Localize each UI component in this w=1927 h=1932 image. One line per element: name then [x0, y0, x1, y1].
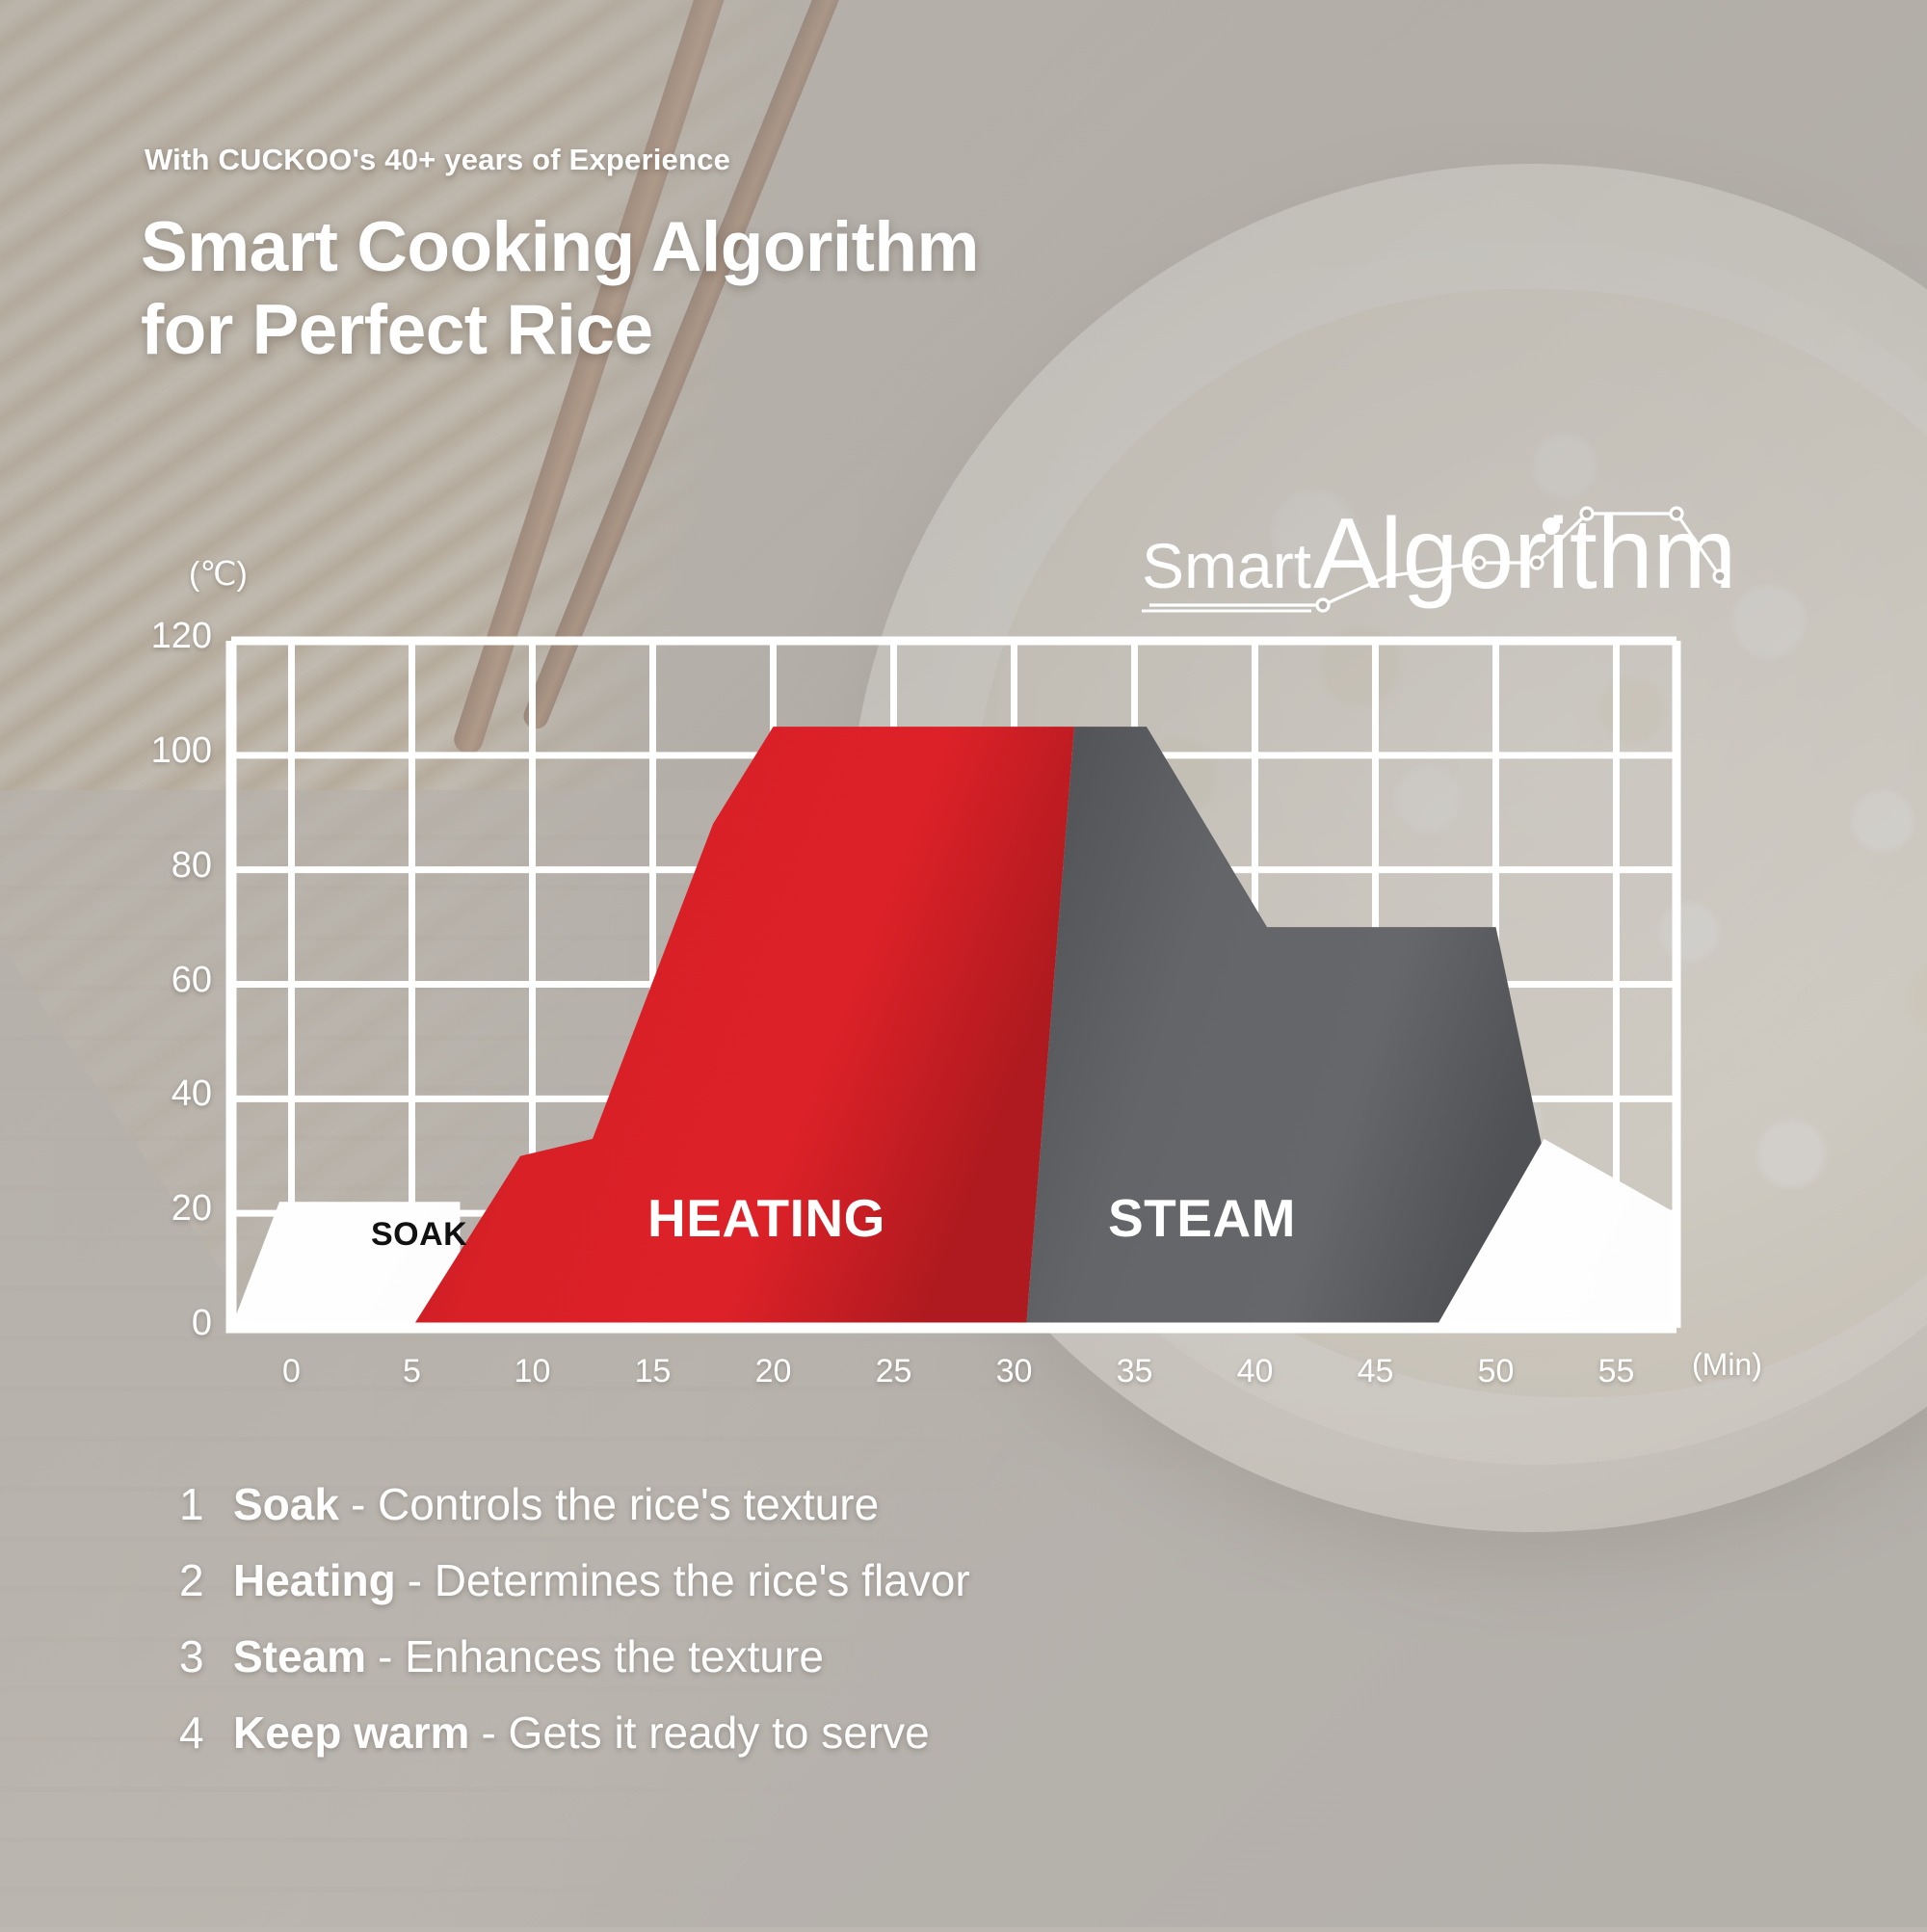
x-axis-tick: 10 [489, 1353, 576, 1390]
step-description: - Gets it ready to serve [481, 1707, 929, 1759]
step-item: 4Keep warm- Gets it ready to serve [179, 1707, 1432, 1759]
x-axis-tick: 35 [1092, 1353, 1178, 1390]
x-axis-tick: 30 [971, 1353, 1058, 1390]
y-axis-tick: 0 [106, 1303, 212, 1344]
x-axis-unit-label: (Min) [1692, 1347, 1762, 1383]
steps-list: 1Soak- Controls the rice's texture2Heati… [179, 1478, 1432, 1783]
x-axis-tick: 55 [1573, 1353, 1660, 1390]
step-number: 3 [179, 1630, 233, 1682]
y-axis-unit-label: (℃) [189, 555, 248, 594]
y-axis-tick: 60 [106, 960, 212, 1001]
x-axis-tick: 5 [369, 1353, 456, 1390]
step-item: 3Steam- Enhances the texture [179, 1630, 1432, 1682]
step-item: 2Heating- Determines the rice's flavor [179, 1554, 1432, 1606]
step-number: 1 [179, 1478, 233, 1530]
phase-label-soak: SOAK [371, 1216, 467, 1254]
step-name: Keep warm [233, 1707, 469, 1759]
step-description: - Controls the rice's texture [351, 1478, 879, 1530]
step-number: 4 [179, 1707, 233, 1759]
step-description: - Enhances the texture [378, 1630, 824, 1682]
y-axis-tick: 100 [106, 730, 212, 772]
x-axis-tick: 25 [851, 1353, 937, 1390]
phase-label-heating: HEATING [647, 1187, 885, 1249]
y-axis-tick: 20 [106, 1188, 212, 1230]
x-axis-tick: 50 [1453, 1353, 1540, 1390]
x-axis-tick: 40 [1212, 1353, 1299, 1390]
step-number: 2 [179, 1554, 233, 1606]
step-description: - Determines the rice's flavor [408, 1554, 970, 1606]
x-axis-tick: 0 [249, 1353, 335, 1390]
step-name: Steam [233, 1630, 366, 1682]
step-name: Soak [233, 1478, 339, 1530]
y-axis-tick: 40 [106, 1073, 212, 1115]
x-axis-tick: 45 [1333, 1353, 1419, 1390]
x-axis-tick: 20 [730, 1353, 817, 1390]
y-axis-tick: 80 [106, 845, 212, 887]
x-axis-tick: 15 [610, 1353, 697, 1390]
phase-label-steam: STEAM [1108, 1187, 1296, 1249]
step-name: Heating [233, 1554, 396, 1606]
y-axis-tick: 120 [106, 616, 212, 657]
step-item: 1Soak- Controls the rice's texture [179, 1478, 1432, 1530]
